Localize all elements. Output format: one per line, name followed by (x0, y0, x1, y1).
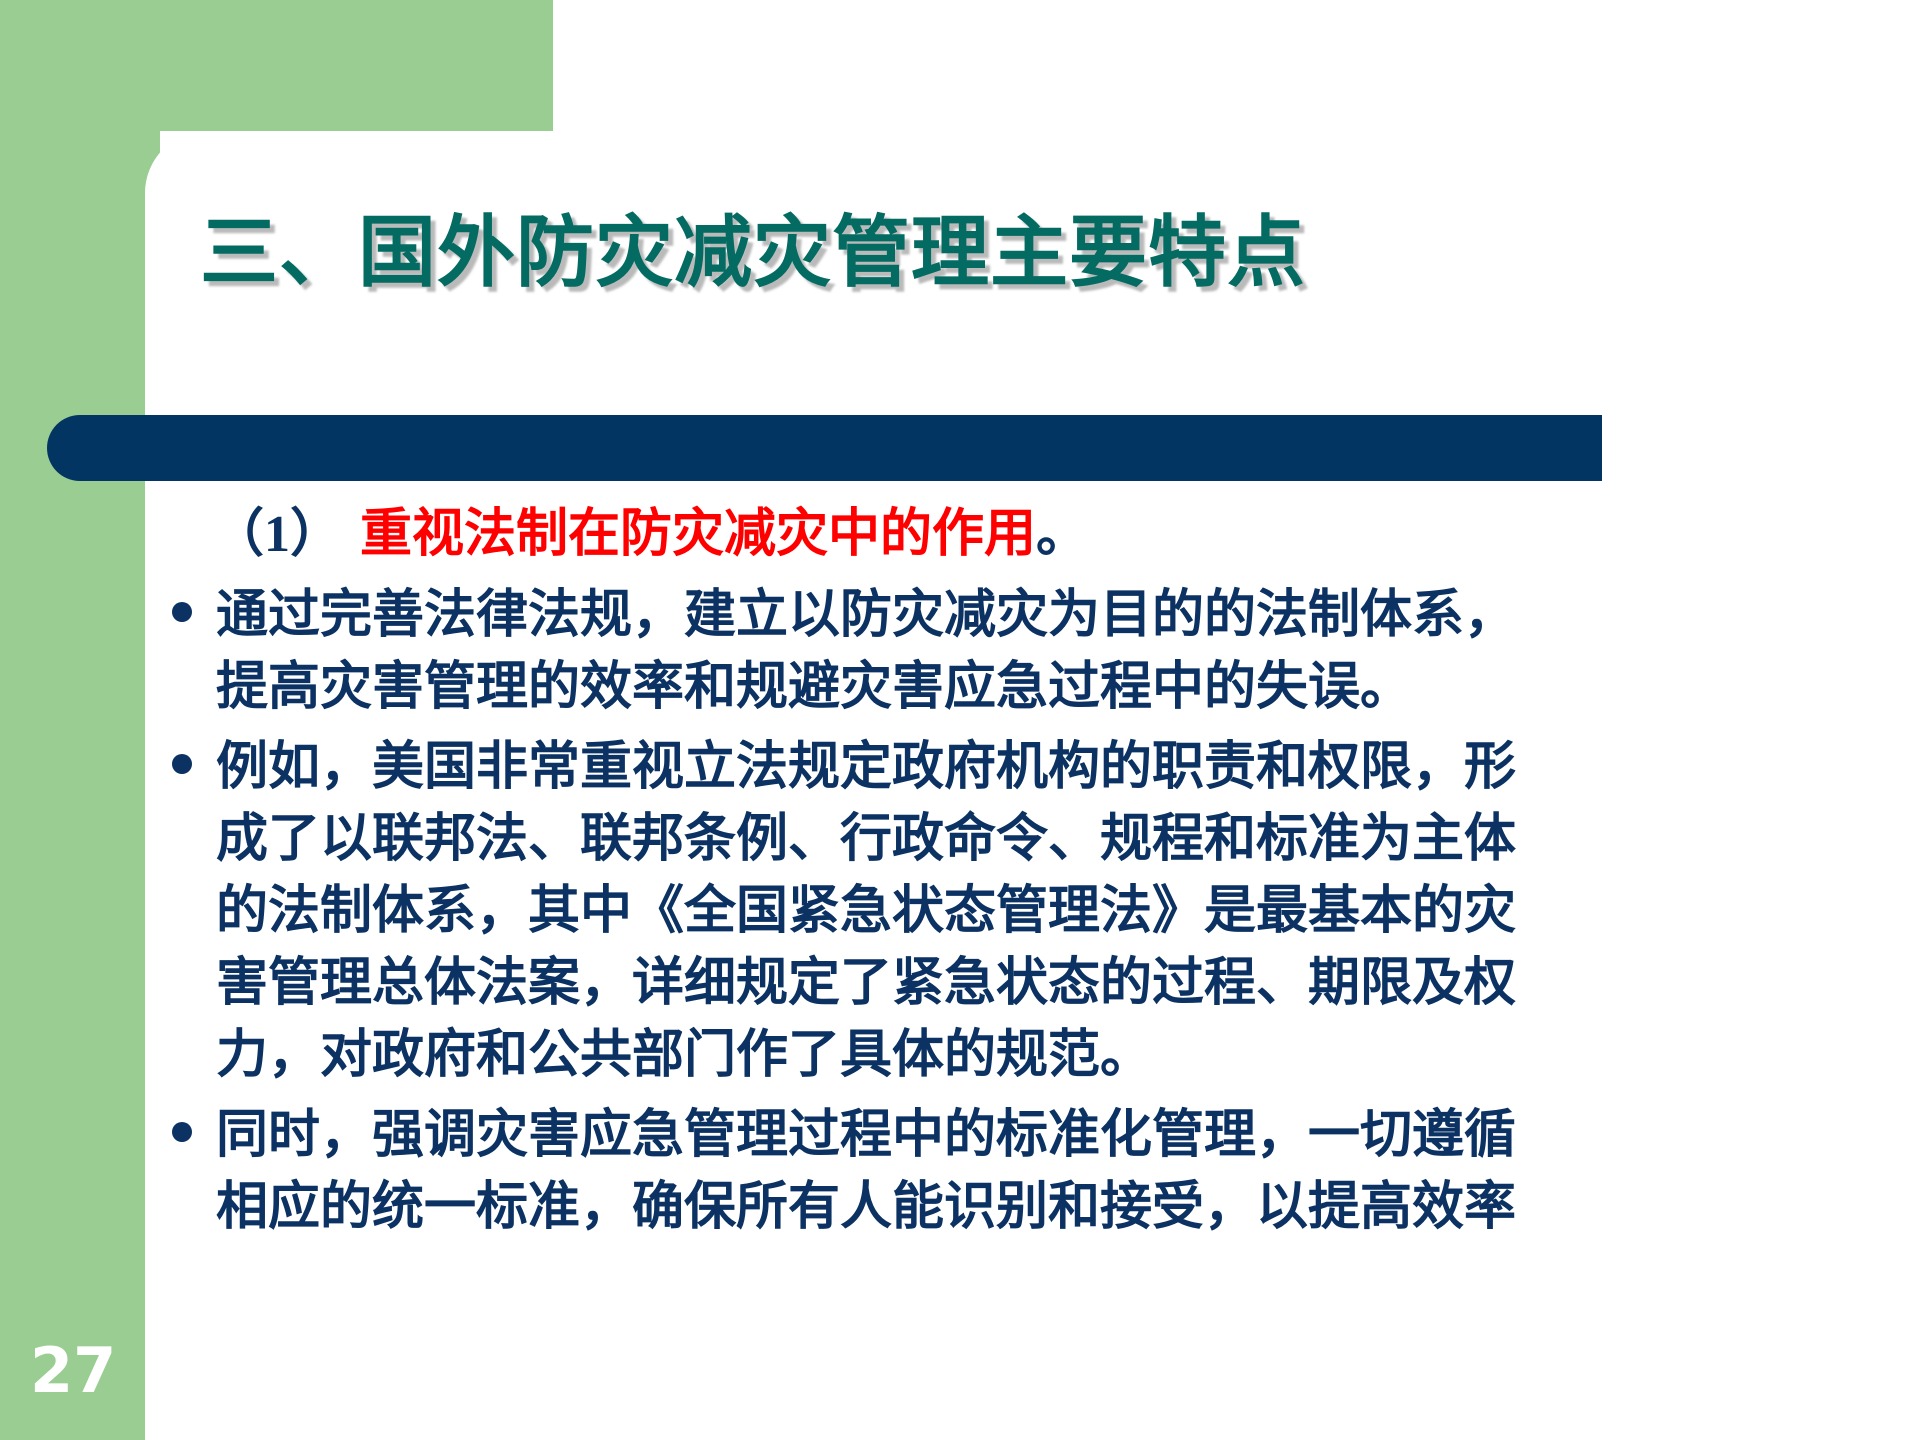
bullet-dot-icon (160, 1100, 216, 1172)
green-left-band-decoration (0, 0, 160, 1440)
list-item-text: 通过完善法律法规，建立以防灾减灾为目的的法制体系， 提高灾害管理的效率和规避灾害… (216, 580, 1920, 724)
list-item-line: 的法制体系，其中《全国紧急状态管理法》是最基本的灾 (216, 876, 1920, 948)
list-item-text: 同时，强调灾害应急管理过程中的标准化管理，一切遵循 相应的统一标准，确保所有人能… (216, 1100, 1920, 1244)
list-item-line: 例如，美国非常重视立法规定政府机构的职责和权限，形 (216, 732, 1920, 804)
sub-heading-period: 。 (1036, 506, 1088, 563)
list-item-line: 通过完善法律法规，建立以防灾减灾为目的的法制体系， (216, 580, 1920, 652)
list-item-line: 相应的统一标准，确保所有人能识别和接受，以提高效率 (216, 1172, 1920, 1244)
list-item-line: 提高灾害管理的效率和规避灾害应急过程中的失误。 (216, 652, 1920, 724)
page-number: 27 (30, 1336, 150, 1406)
list-item-line: 害管理总体法案，详细规定了紧急状态的过程、期限及权 (216, 948, 1920, 1020)
bullet-dot-icon (160, 580, 216, 652)
slide-title: 三、国外防灾减灾管理主要特点 (200, 205, 1700, 301)
sub-heading: （1）重视法制在防灾减灾中的作用。 (160, 498, 1920, 572)
list-item-line: 力，对政府和公共部门作了具体的规范。 (216, 1020, 1920, 1092)
bullet-dot-icon (160, 732, 216, 804)
sub-heading-red-text: 重视法制在防灾减灾中的作用 (342, 506, 1036, 563)
list-item-text: 例如，美国非常重视立法规定政府机构的职责和权限，形 成了以联邦法、联邦条例、行政… (216, 732, 1920, 1092)
list-item: 同时，强调灾害应急管理过程中的标准化管理，一切遵循 相应的统一标准，确保所有人能… (160, 1100, 1920, 1244)
sub-heading-number: （1） (212, 506, 342, 563)
list-item-line: 成了以联邦法、联邦条例、行政命令、规程和标准为主体 (216, 804, 1920, 876)
title-underline-bar (47, 415, 1602, 481)
list-item: 例如，美国非常重视立法规定政府机构的职责和权限，形 成了以联邦法、联邦条例、行政… (160, 732, 1920, 1092)
slide-content: （1）重视法制在防灾减灾中的作用。 通过完善法律法规，建立以防灾减灾为目的的法制… (160, 498, 1920, 1244)
list-item-line: 同时，强调灾害应急管理过程中的标准化管理，一切遵循 (216, 1100, 1920, 1172)
list-item: 通过完善法律法规，建立以防灾减灾为目的的法制体系， 提高灾害管理的效率和规避灾害… (160, 580, 1920, 724)
presentation-slide: 三、国外防灾减灾管理主要特点 （1）重视法制在防灾减灾中的作用。 通过完善法律法… (0, 0, 1920, 1440)
